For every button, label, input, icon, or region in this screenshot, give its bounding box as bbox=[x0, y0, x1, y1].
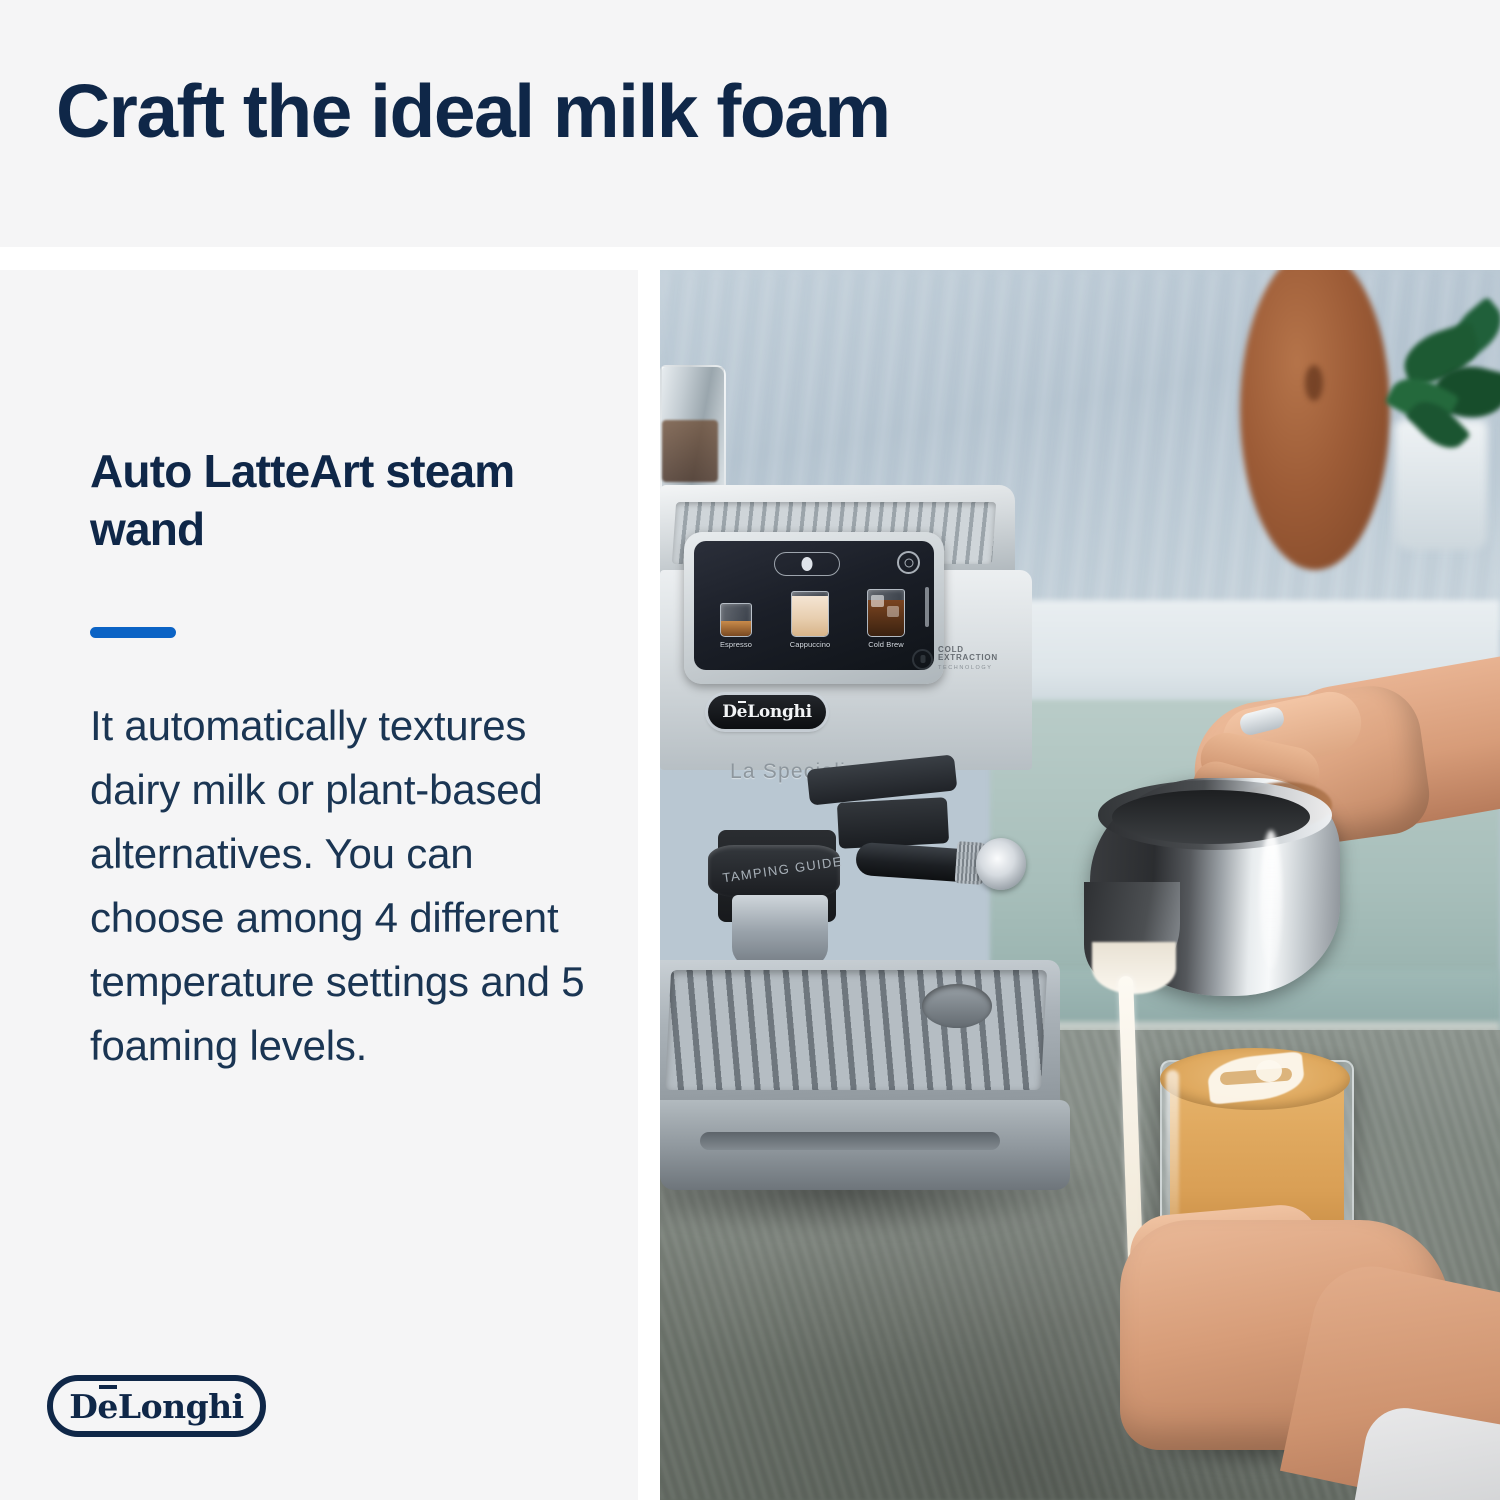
gear-icon[interactable] bbox=[897, 551, 920, 574]
touchscreen-display[interactable]: Espresso Cappuccino Cold Brew bbox=[694, 541, 934, 670]
cold-extraction-icon bbox=[912, 649, 933, 670]
cold-extraction-title: COLD EXTRACTION bbox=[938, 646, 1018, 662]
logo-suffix: Longhi bbox=[118, 1387, 244, 1426]
logo-prefix: D bbox=[69, 1387, 97, 1426]
pitcher-interior bbox=[1112, 790, 1310, 844]
header-band: Craft the ideal milk foam bbox=[0, 0, 1500, 247]
accent-divider bbox=[90, 627, 176, 638]
drink-label: Espresso bbox=[700, 640, 772, 649]
coffee-bean-icon[interactable] bbox=[774, 552, 840, 576]
cold-extraction-subtitle: TECHNOLOGY bbox=[938, 664, 1018, 672]
feature-text-panel: Auto LatteArt steam wand It automaticall… bbox=[0, 270, 638, 1500]
feature-body-text: It automatically textures dairy milk or … bbox=[90, 694, 600, 1078]
scroll-indicator[interactable] bbox=[925, 587, 929, 627]
latte-art-dot bbox=[1256, 1060, 1282, 1082]
glass-highlight bbox=[1166, 1070, 1179, 1238]
product-feature-card: Craft the ideal milk foam Auto LatteArt … bbox=[0, 0, 1500, 1500]
machine-brand-badge: DeLonghi bbox=[708, 695, 826, 729]
drink-label: Cappuccino bbox=[774, 640, 846, 649]
milk-at-spout bbox=[1092, 942, 1176, 994]
portafilter bbox=[732, 895, 828, 967]
badge-macron-letter: e bbox=[737, 702, 748, 722]
delonghi-logo: DeLonghi bbox=[47, 1375, 266, 1437]
cold-brew-glass-icon bbox=[867, 589, 905, 637]
drip-tray-indicator bbox=[922, 984, 992, 1028]
cappuccino-glass-icon bbox=[791, 591, 829, 637]
drink-option-cappuccino[interactable]: Cappuccino bbox=[774, 591, 846, 649]
espresso-glass-icon bbox=[720, 603, 752, 637]
product-photo: Espresso Cappuccino Cold Brew COLD EXTRA… bbox=[660, 270, 1500, 1500]
badge-suffix: Longhi bbox=[747, 702, 812, 722]
machine-base-slot bbox=[700, 1132, 1000, 1150]
page-title: Craft the ideal milk foam bbox=[56, 68, 890, 154]
badge-prefix: D bbox=[722, 702, 736, 722]
pitcher-highlight bbox=[1260, 830, 1282, 970]
drink-option-cold-brew[interactable]: Cold Brew bbox=[850, 589, 922, 649]
logo-macron-letter: e bbox=[97, 1387, 118, 1426]
machine-arm bbox=[837, 797, 949, 849]
coffee-beans bbox=[662, 420, 718, 482]
drip-tray-grid bbox=[665, 970, 1047, 1090]
cold-extraction-badge: COLD EXTRACTION TECHNOLOGY bbox=[912, 648, 1018, 670]
feature-subheading: Auto LatteArt steam wand bbox=[90, 442, 590, 558]
wood-knot bbox=[1305, 365, 1323, 401]
drink-option-espresso[interactable]: Espresso bbox=[700, 603, 772, 649]
drink-selection-list: Espresso Cappuccino Cold Brew bbox=[694, 581, 934, 669]
delonghi-logo-text: DeLonghi bbox=[53, 1381, 260, 1431]
